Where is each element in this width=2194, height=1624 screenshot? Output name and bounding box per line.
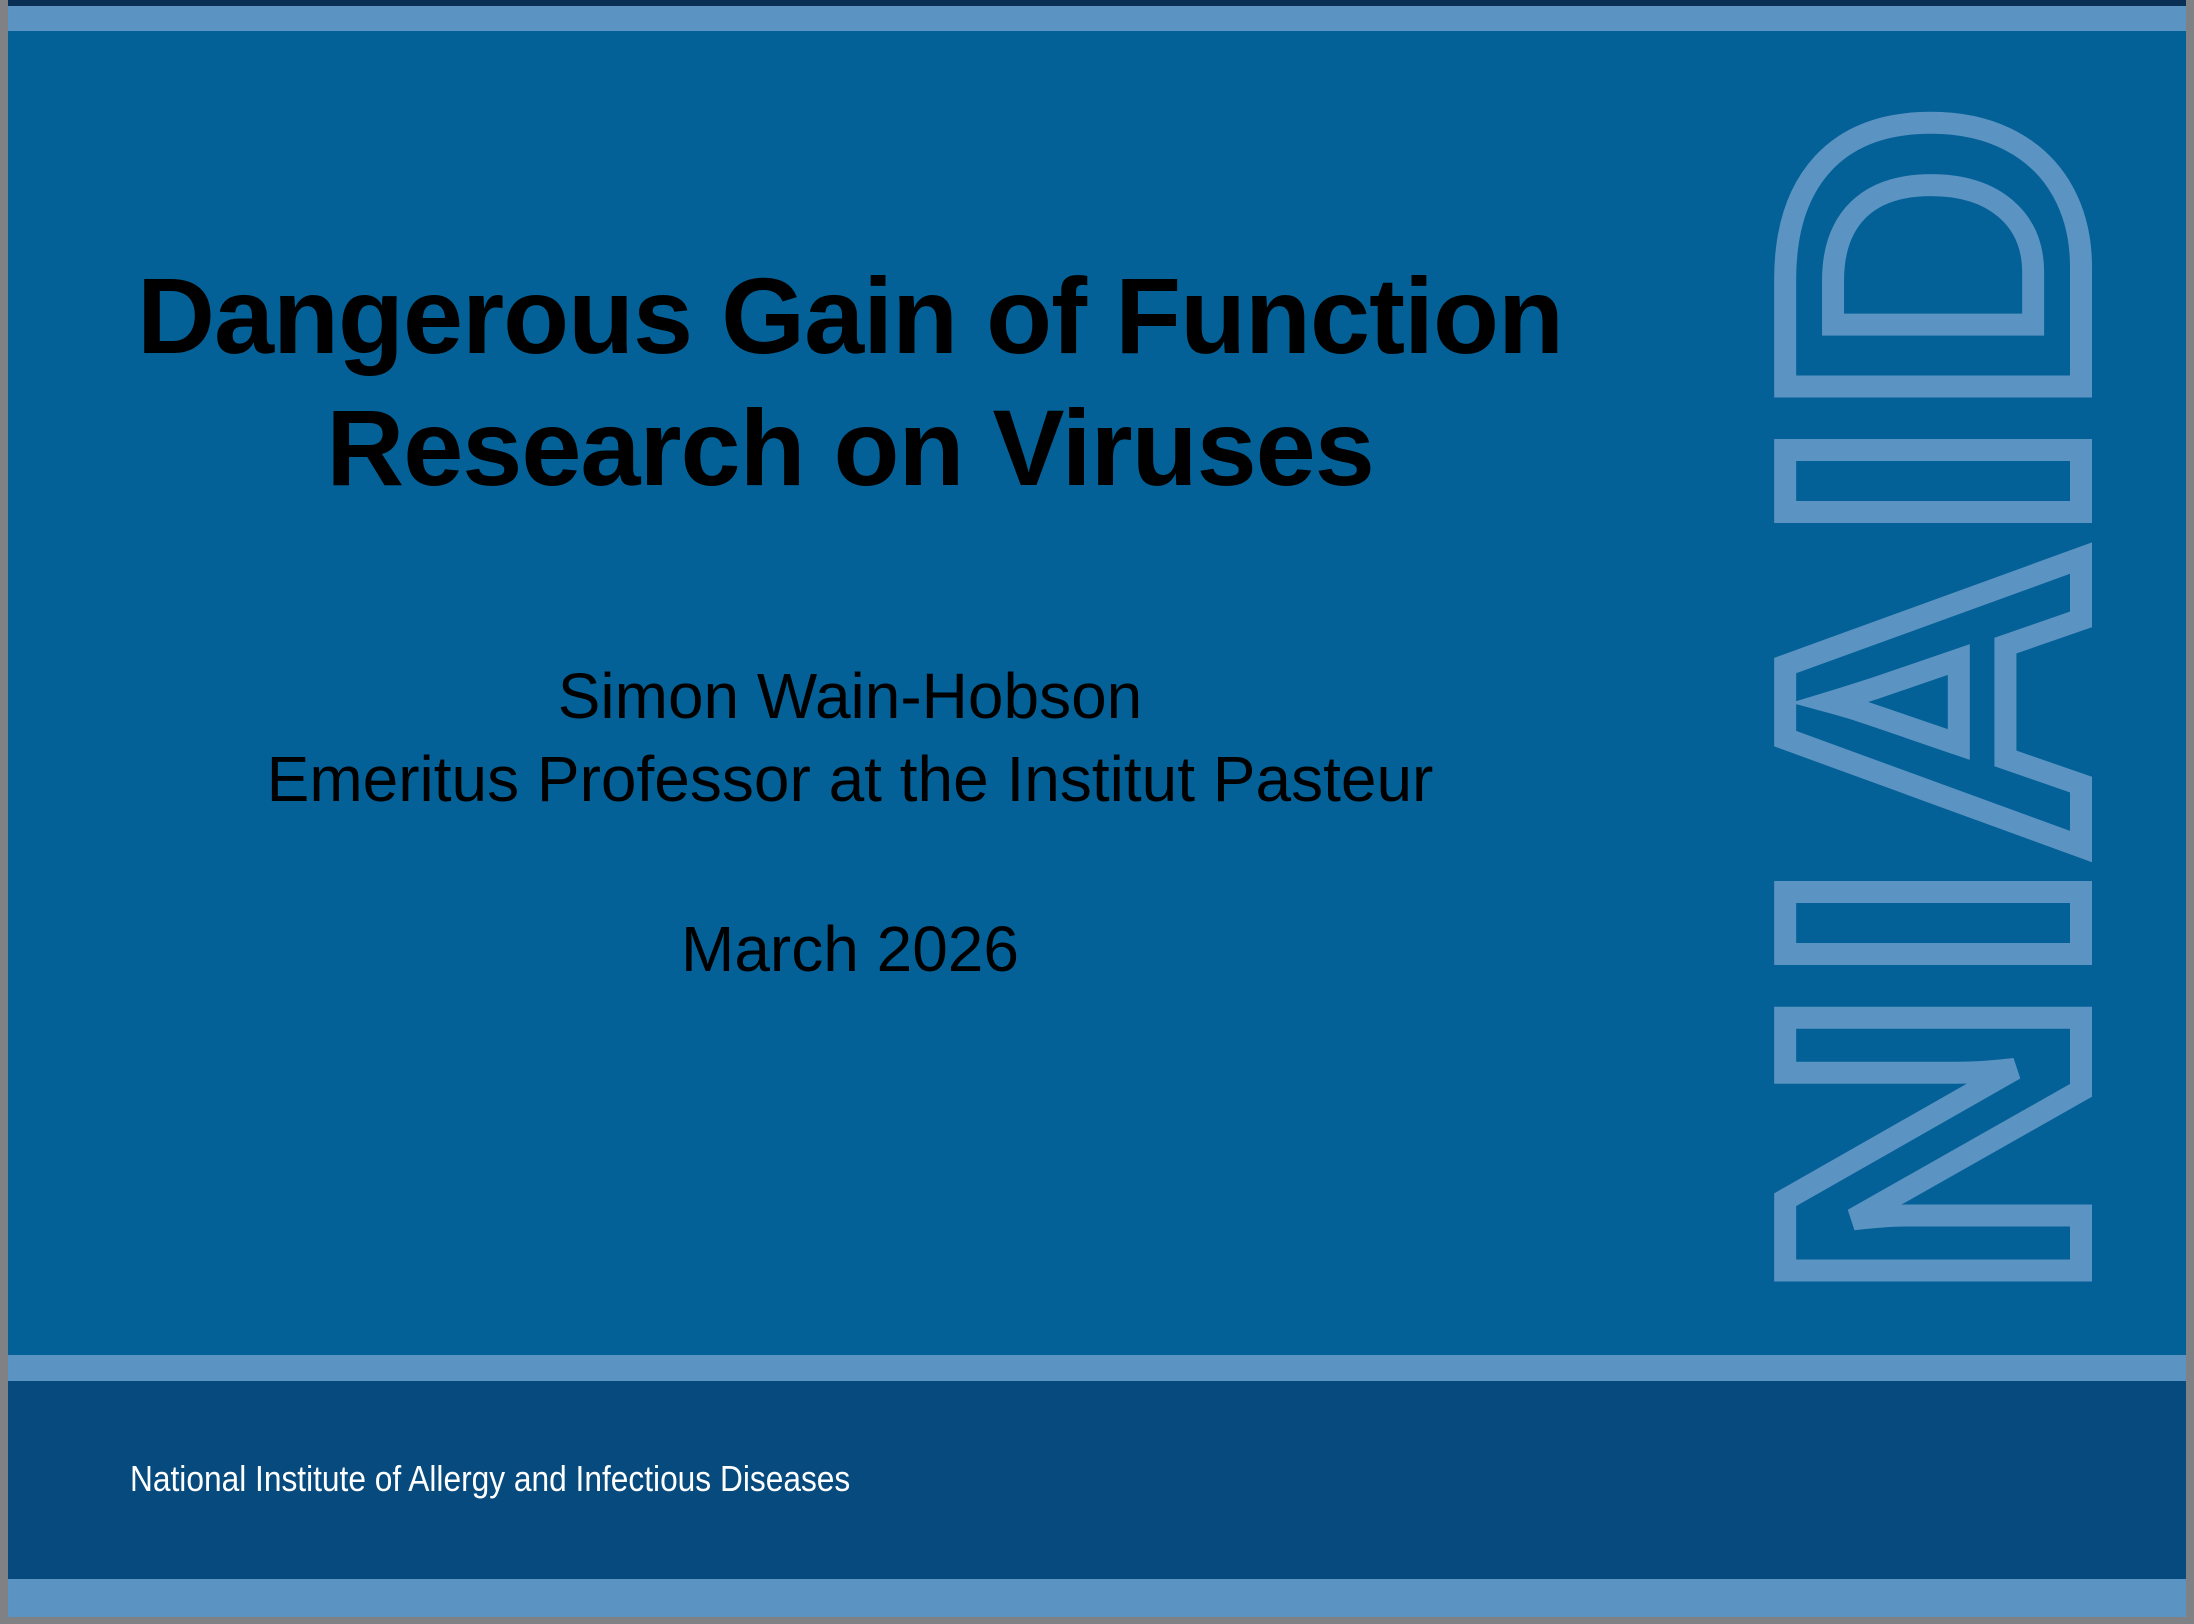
top-light-blue-band [8,6,2186,31]
niaid-watermark: NIAID [1668,91,2186,1306]
niaid-watermark-text: NIAID [1718,98,2148,1299]
slide-author: Simon Wain-Hobson Emeritus Professor at … [90,655,1610,821]
author-affiliation: Emeritus Professor at the Institut Paste… [90,738,1610,821]
slide-title: Dangerous Gain of Function Research on V… [90,250,1610,514]
author-name: Simon Wain-Hobson [90,655,1610,738]
mid-light-blue-band [8,1355,2186,1381]
bottom-light-blue-band [8,1579,2186,1617]
title-line-2: Research on Viruses [90,382,1610,514]
footer-institution-label: National Institute of Allergy and Infect… [130,1458,850,1500]
slide-canvas: NIAID Dangerous Gain of Function Researc… [0,0,2194,1624]
title-line-1: Dangerous Gain of Function [90,250,1610,382]
slide-date: March 2026 [90,908,1610,991]
